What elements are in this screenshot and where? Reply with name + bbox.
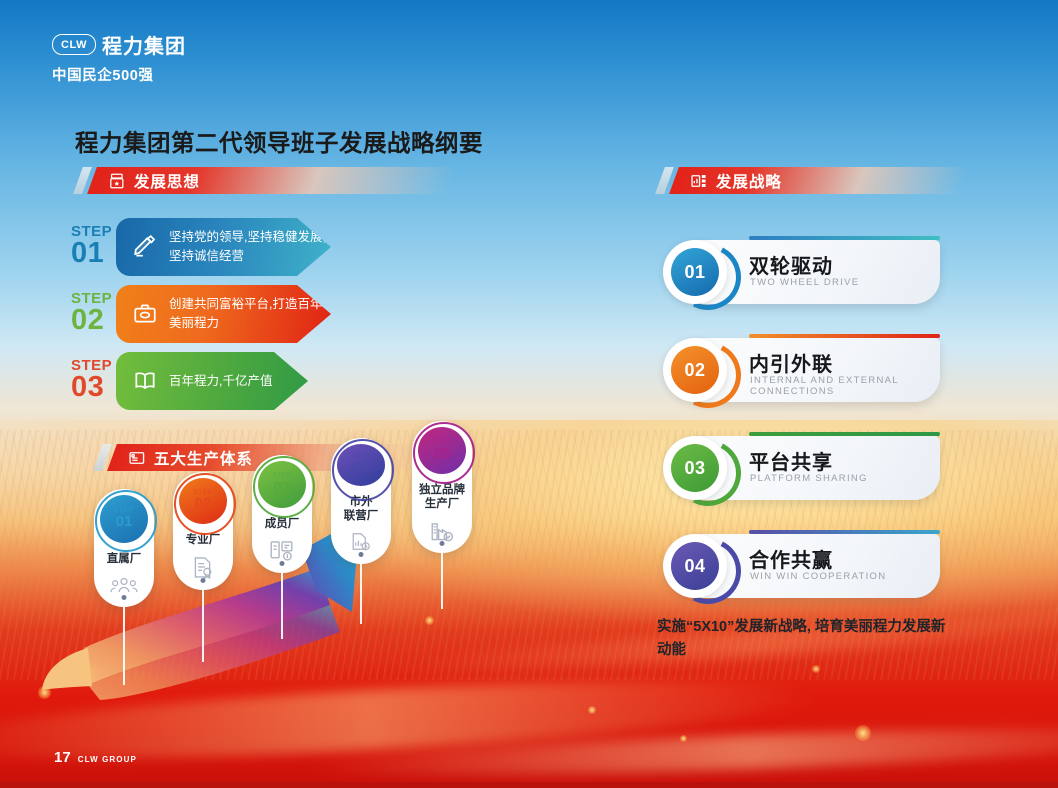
card-title-cn: 内引外联 xyxy=(749,348,833,377)
card-badge: 01 xyxy=(663,240,727,304)
clw-logo-icon: CLW xyxy=(52,34,96,55)
chart-doc-icon xyxy=(349,532,373,553)
unit-label-line2: 生产厂 xyxy=(419,497,465,511)
step-number: 01 xyxy=(71,239,112,269)
factory-check-icon xyxy=(429,521,455,542)
section-title: 发展战略 xyxy=(716,170,782,192)
strategy-card-04[interactable]: 04 合作共赢 WIN WIN COOPERATION xyxy=(657,530,940,602)
step-badge: STEP 04 xyxy=(337,444,385,486)
card-number: 02 xyxy=(671,346,719,394)
card-title-cn: 合作共赢 xyxy=(749,544,833,573)
step-number: 02 xyxy=(71,306,112,336)
slide-canvas: CLW 程力集团 中国民企500强 程力集团第二代领导班子发展战略纲要 发展思想 xyxy=(0,0,1058,788)
background-spark xyxy=(425,616,434,625)
badge-ring xyxy=(413,422,475,484)
people-group-icon xyxy=(109,575,139,595)
briefcase-icon xyxy=(132,301,158,327)
card-badge: 04 xyxy=(663,534,727,598)
card-title-cn: 平台共享 xyxy=(749,446,833,475)
badge-star-icon xyxy=(108,172,126,190)
section-header-strategy: 发展战略 xyxy=(660,167,964,194)
production-unit-04[interactable]: STEP 04 市外 联营厂 xyxy=(331,438,391,564)
strategy-footnote: 实施“5X10”发展新战略, 培育美丽程力发展新动能 xyxy=(657,616,957,663)
badge-ring xyxy=(332,439,394,501)
section-title: 五大生产体系 xyxy=(154,447,253,469)
production-unit-03[interactable]: STEP 03 成员厂 xyxy=(252,455,312,573)
connector-stem xyxy=(360,564,362,624)
step-word: STEP xyxy=(432,439,451,446)
card-title-en: WIN WIN COOPERATION xyxy=(750,571,886,582)
production-unit-02[interactable]: STEP 02 专业厂 xyxy=(173,472,233,590)
background-spark xyxy=(38,686,51,699)
step-text: 百年程力,千亿产值 xyxy=(169,372,272,391)
production-unit-01[interactable]: STEP 01 直属厂 xyxy=(94,489,154,607)
step-word: STEP xyxy=(351,454,370,461)
step-arrow-01[interactable]: 坚持党的领导,坚持稳健发展,坚持诚信经营 xyxy=(116,218,331,276)
connector-dot xyxy=(280,561,285,566)
strategy-card-01[interactable]: 01 双轮驱动 TWO WHEEL DRIVE xyxy=(657,236,940,308)
background-spark xyxy=(855,725,871,741)
factory-board-icon xyxy=(128,449,146,467)
certificate-icon xyxy=(192,556,214,579)
brand-logo: CLW 程力集团 中国民企500强 xyxy=(52,30,186,85)
background-spark xyxy=(680,735,687,742)
pencil-icon xyxy=(132,234,158,260)
connector-stem xyxy=(123,607,125,685)
step-arrow-03[interactable]: 百年程力,千亿产值 xyxy=(116,352,308,410)
connector-dot xyxy=(440,541,445,546)
background-spark xyxy=(80,662,98,680)
step-label-01: STEP 01 xyxy=(71,224,112,269)
badge-ring xyxy=(253,456,315,518)
step-badge: STEP 03 xyxy=(258,461,306,508)
card-number: 03 xyxy=(671,444,719,492)
connector-stem xyxy=(202,590,204,662)
section-title: 发展思想 xyxy=(134,170,200,192)
card-badge: 03 xyxy=(663,436,727,500)
card-title-en: TWO WHEEL DRIVE xyxy=(750,277,859,288)
unit-label: 成员厂 xyxy=(265,517,300,531)
footer-bar xyxy=(0,782,1058,788)
unit-label: 独立品牌 生产厂 xyxy=(419,483,465,512)
step-word: STEP xyxy=(114,508,133,515)
chart-board-icon xyxy=(690,172,708,190)
page-title: 程力集团第二代领导班子发展战略纲要 xyxy=(75,124,483,158)
card-number: 04 xyxy=(671,542,719,590)
card-title-cn: 双轮驱动 xyxy=(749,250,833,279)
unit-label-line1: 独立品牌 xyxy=(419,483,465,497)
open-book-icon xyxy=(132,368,158,394)
production-unit-05[interactable]: STEP 05 独立品牌 生产厂 xyxy=(412,421,472,553)
footer-label: CLW GROUP xyxy=(78,755,137,766)
badge-ring xyxy=(174,473,236,535)
card-title-en: PLATFORM SHARING xyxy=(750,473,868,484)
section-header-thought: 发展思想 xyxy=(78,167,452,194)
step-arrow-02[interactable]: 创建共同富裕平台,打造百年美丽程力 xyxy=(116,285,331,343)
step-badge: STEP 02 xyxy=(179,478,227,524)
step-text: 坚持党的领导,坚持稳健发展,坚持诚信经营 xyxy=(169,228,331,266)
card-title-en: INTERNAL AND EXTERNAL CONNECTIONS xyxy=(750,375,940,397)
step-number: 03 xyxy=(71,373,112,403)
step-badge: STEP 01 xyxy=(100,495,148,543)
background-spark xyxy=(812,665,820,673)
unit-label-line2: 联营厂 xyxy=(344,509,379,523)
step-text: 创建共同富裕平台,打造百年美丽程力 xyxy=(169,295,331,333)
connector-stem xyxy=(441,553,443,609)
badge-ring xyxy=(95,490,157,552)
connector-dot xyxy=(359,552,364,557)
brand-name: 程力集团 xyxy=(102,30,186,59)
strategy-card-03[interactable]: 03 平台共享 PLATFORM SHARING xyxy=(657,432,940,504)
connector-dot xyxy=(201,578,206,583)
step-word: STEP xyxy=(193,490,212,497)
step-label-02: STEP 02 xyxy=(71,291,112,336)
book-gear-icon xyxy=(269,540,295,562)
connector-stem xyxy=(281,573,283,639)
step-word: STEP xyxy=(272,473,291,480)
brand-tagline: 中国民企500强 xyxy=(52,64,186,85)
background-spark xyxy=(588,706,596,714)
page-footer: 17 CLW GROUP xyxy=(54,749,137,766)
page-number: 17 xyxy=(54,749,71,766)
background-streak xyxy=(300,719,1058,784)
step-badge: STEP 05 xyxy=(418,427,466,474)
strategy-card-02[interactable]: 02 内引外联 INTERNAL AND EXTERNAL CONNECTION… xyxy=(657,334,940,406)
card-number: 01 xyxy=(671,248,719,296)
unit-label: 直属厂 xyxy=(107,552,142,566)
step-label-03: STEP 03 xyxy=(71,358,112,403)
connector-dot xyxy=(122,595,127,600)
card-badge: 02 xyxy=(663,338,727,402)
